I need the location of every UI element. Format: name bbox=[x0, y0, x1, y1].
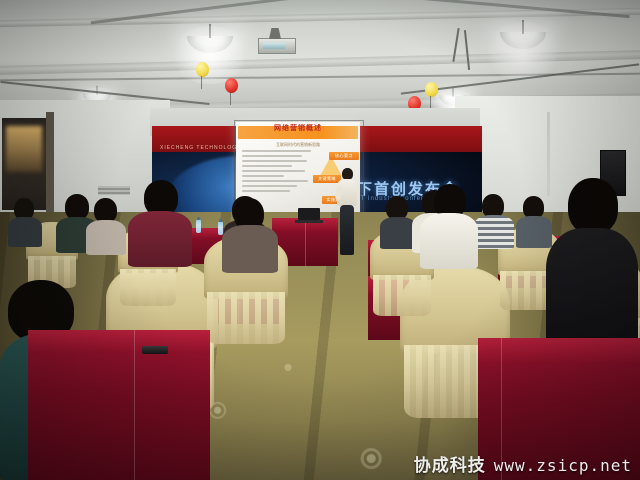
yellow-balloon-icon bbox=[196, 62, 209, 77]
yellow-balloon-icon bbox=[425, 82, 438, 97]
door-light-glow bbox=[6, 126, 42, 172]
laptop-icon bbox=[298, 208, 320, 220]
photo-scene: 协成科技 XIECHENG TECHNOLOGY 下首创发布会 IT Indus… bbox=[0, 0, 640, 480]
audience-member bbox=[474, 194, 514, 248]
watermark-company: 协成科技 bbox=[414, 451, 486, 476]
pendant-light-icon bbox=[187, 36, 233, 53]
watermark: 协成科技 www.zsicp.net bbox=[414, 451, 632, 476]
red-balloon-icon bbox=[225, 78, 238, 93]
phone-icon bbox=[142, 346, 168, 354]
wall-vent bbox=[98, 186, 130, 195]
audience-member bbox=[86, 198, 126, 254]
audience-member bbox=[222, 198, 278, 272]
audience-member bbox=[380, 196, 416, 248]
audience-member bbox=[8, 198, 42, 246]
watermark-url: www.zsicp.net bbox=[494, 456, 632, 475]
pendant-light-icon bbox=[500, 32, 546, 49]
water-bottle-icon bbox=[196, 220, 201, 233]
door-frame bbox=[46, 112, 54, 214]
banner-red-sub: XIECHENG TECHNOLOGY bbox=[160, 145, 241, 151]
foreground-attendee-right bbox=[546, 178, 638, 358]
presenter bbox=[336, 168, 358, 260]
audience-member bbox=[420, 184, 478, 268]
ceiling-beam bbox=[0, 8, 640, 27]
foreground-table-left bbox=[28, 330, 210, 480]
audience-member bbox=[128, 180, 192, 266]
projector-icon bbox=[258, 38, 296, 54]
